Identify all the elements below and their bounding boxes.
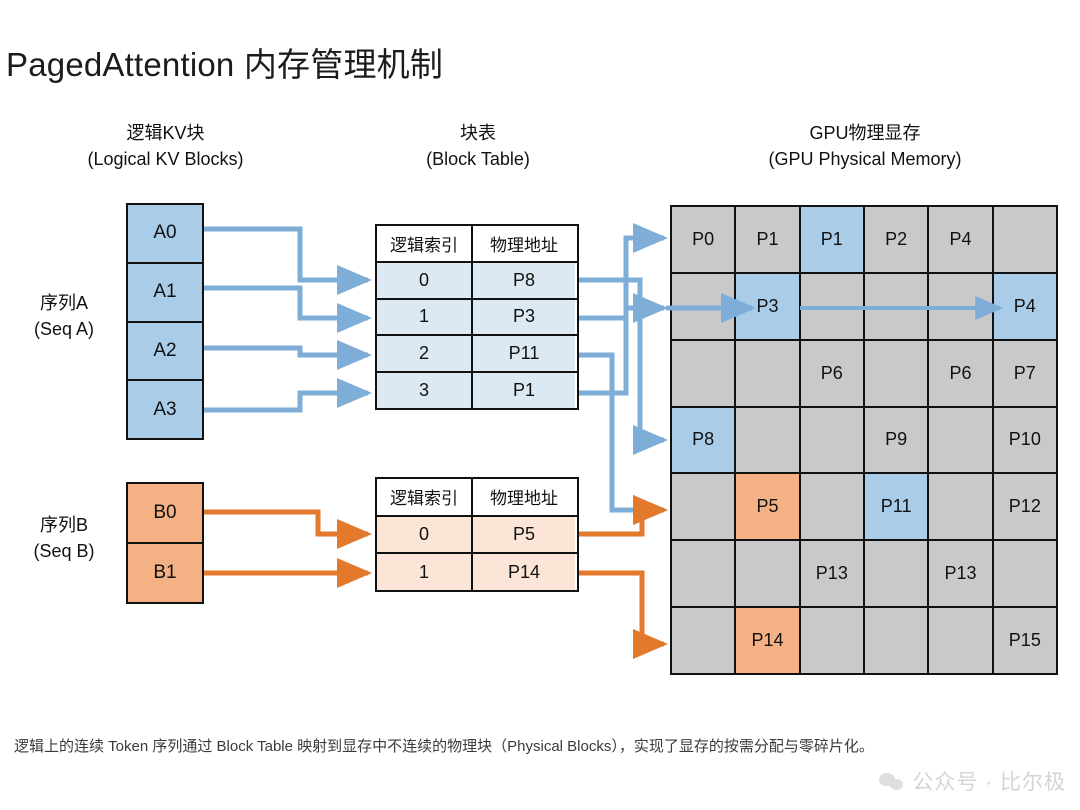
block-table-logical-index: 3 (377, 373, 473, 408)
memory-block-p1[interactable]: P1 (801, 207, 863, 272)
block-table-row[interactable]: 1 P3 (377, 300, 577, 337)
memory-block-p0[interactable]: P0 (672, 207, 734, 272)
memory-block-p3[interactable]: P3 (736, 274, 798, 339)
block-table-row[interactable]: 3 P1 (377, 373, 577, 408)
memory-block-empty (865, 274, 927, 339)
memory-block-p7[interactable]: P7 (994, 341, 1056, 406)
logical-block[interactable]: A3 (128, 381, 202, 438)
memory-block-empty (672, 341, 734, 406)
watermark-label: 公众号 · 比尔极 (912, 766, 1066, 796)
memory-block-p15[interactable]: P15 (994, 608, 1056, 673)
block-table-row[interactable]: 0 P8 (377, 263, 577, 300)
block-table-row[interactable]: 0 P5 (377, 517, 577, 555)
sequence-label-b: 序列B (Seq B) (10, 512, 118, 564)
memory-block-p6[interactable]: P6 (929, 341, 991, 406)
column-header-en: (Logical KV Blocks) (58, 146, 273, 172)
memory-block-p6[interactable]: P6 (801, 341, 863, 406)
block-table-header-physical-addr: 物理地址 (473, 226, 575, 261)
memory-block-p1[interactable]: P1 (736, 207, 798, 272)
memory-block-empty (801, 608, 863, 673)
logical-block-stack-b: B0 B1 (126, 482, 204, 604)
memory-block-p5[interactable]: P5 (736, 474, 798, 539)
wire-row2-to-p11 (579, 355, 664, 510)
block-table-physical-addr: P3 (473, 300, 575, 335)
memory-block-empty (801, 274, 863, 339)
memory-block-p14[interactable]: P14 (736, 608, 798, 673)
column-header-cn: 逻辑KV块 (58, 120, 273, 146)
block-table-logical-index: 2 (377, 336, 473, 371)
memory-block-p9[interactable]: P9 (865, 408, 927, 473)
memory-block-empty (929, 474, 991, 539)
column-header-gpu-physical-memory: GPU物理显存 (GPU Physical Memory) (672, 120, 1058, 172)
block-table-header-row: 逻辑索引 物理地址 (377, 479, 577, 517)
memory-block-p13[interactable]: P13 (929, 541, 991, 606)
column-header-block-table: 块表 (Block Table) (372, 120, 584, 172)
memory-block-empty (994, 541, 1056, 606)
block-table-physical-addr: P11 (473, 336, 575, 371)
caption-text: 逻辑上的连续 Token 序列通过 Block Table 映射到显存中不连续的… (14, 733, 1014, 761)
logical-block[interactable]: B1 (128, 544, 202, 602)
block-table-logical-index: 1 (377, 554, 473, 590)
memory-block-p13[interactable]: P13 (801, 541, 863, 606)
block-table-header-row: 逻辑索引 物理地址 (377, 226, 577, 263)
memory-block-empty (929, 408, 991, 473)
logical-block[interactable]: A2 (128, 323, 202, 382)
sequence-name-en: (Seq A) (10, 316, 118, 342)
wire-row3-to-p1 (579, 308, 664, 393)
block-table-header-logical-index: 逻辑索引 (377, 226, 473, 261)
memory-block-empty (672, 541, 734, 606)
memory-block-empty (801, 474, 863, 539)
memory-block-p4[interactable]: P4 (929, 207, 991, 272)
memory-block-empty (801, 408, 863, 473)
block-table-row[interactable]: 1 P14 (377, 554, 577, 590)
memory-block-p10[interactable]: P10 (994, 408, 1056, 473)
block-table-physical-addr: P14 (473, 554, 575, 590)
block-table-a: 逻辑索引 物理地址 0 P8 1 P3 2 P11 3 P1 (375, 224, 579, 410)
logical-block[interactable]: A1 (128, 264, 202, 323)
block-table-physical-addr: P1 (473, 373, 575, 408)
wire-a0-to-row0 (204, 229, 368, 280)
memory-block-p11[interactable]: P11 (865, 474, 927, 539)
block-table-logical-index: 0 (377, 263, 473, 298)
column-header-cn: GPU物理显存 (672, 120, 1058, 146)
memory-block-empty (865, 341, 927, 406)
sequence-name-cn: 序列A (10, 290, 118, 316)
wire-a2-to-row2 (204, 348, 368, 355)
memory-block-empty (994, 207, 1056, 272)
block-table-physical-addr: P5 (473, 517, 575, 553)
diagram-canvas: PagedAttention 内存管理机制 逻辑KV块 (Logical KV … (0, 0, 1080, 810)
memory-block-p4[interactable]: P4 (994, 274, 1056, 339)
block-table-row[interactable]: 2 P11 (377, 336, 577, 373)
memory-block-empty (736, 408, 798, 473)
block-table-physical-addr: P8 (473, 263, 575, 298)
logical-block-stack-a: A0 A1 A2 A3 (126, 203, 204, 440)
logical-block[interactable]: A0 (128, 205, 202, 264)
wire-a3-to-row3 (204, 393, 368, 410)
wire-row0-to-p5 (579, 510, 664, 534)
memory-block-empty (736, 341, 798, 406)
wechat-icon (879, 771, 905, 792)
column-header-en: (Block Table) (372, 146, 584, 172)
gpu-physical-memory-grid: P0P1P1P2P4P3P4P6P6P7P8P9P10P5P11P12P13P1… (670, 205, 1058, 675)
column-header-logical-kv-blocks: 逻辑KV块 (Logical KV Blocks) (58, 120, 273, 172)
memory-block-p2[interactable]: P2 (865, 207, 927, 272)
memory-block-empty (672, 474, 734, 539)
block-table-logical-index: 0 (377, 517, 473, 553)
block-table-header-logical-index: 逻辑索引 (377, 479, 473, 515)
wire-row0-to-p8 (579, 280, 664, 440)
memory-block-empty (865, 608, 927, 673)
memory-block-p8[interactable]: P8 (672, 408, 734, 473)
column-header-cn: 块表 (372, 120, 584, 146)
memory-block-empty (736, 541, 798, 606)
memory-block-empty (672, 608, 734, 673)
memory-block-empty (672, 274, 734, 339)
wire-row1-to-p14 (579, 573, 664, 644)
memory-block-empty (929, 608, 991, 673)
sequence-name-cn: 序列B (10, 512, 118, 538)
logical-block[interactable]: B0 (128, 484, 202, 544)
watermark: 公众号 · 比尔极 (879, 766, 1066, 796)
memory-block-p12[interactable]: P12 (994, 474, 1056, 539)
sequence-name-en: (Seq B) (10, 538, 118, 564)
wire-a1-to-row1 (204, 288, 368, 318)
block-table-header-physical-addr: 物理地址 (473, 479, 575, 515)
memory-block-empty (929, 274, 991, 339)
column-header-en: (GPU Physical Memory) (672, 146, 1058, 172)
wire-row1-to-p3 (579, 238, 664, 318)
page-title: PagedAttention 内存管理机制 (6, 38, 443, 86)
block-table-b: 逻辑索引 物理地址 0 P5 1 P14 (375, 477, 579, 592)
block-table-logical-index: 1 (377, 300, 473, 335)
sequence-label-a: 序列A (Seq A) (10, 290, 118, 342)
wire-b0-to-row0 (204, 512, 368, 534)
memory-block-empty (865, 541, 927, 606)
